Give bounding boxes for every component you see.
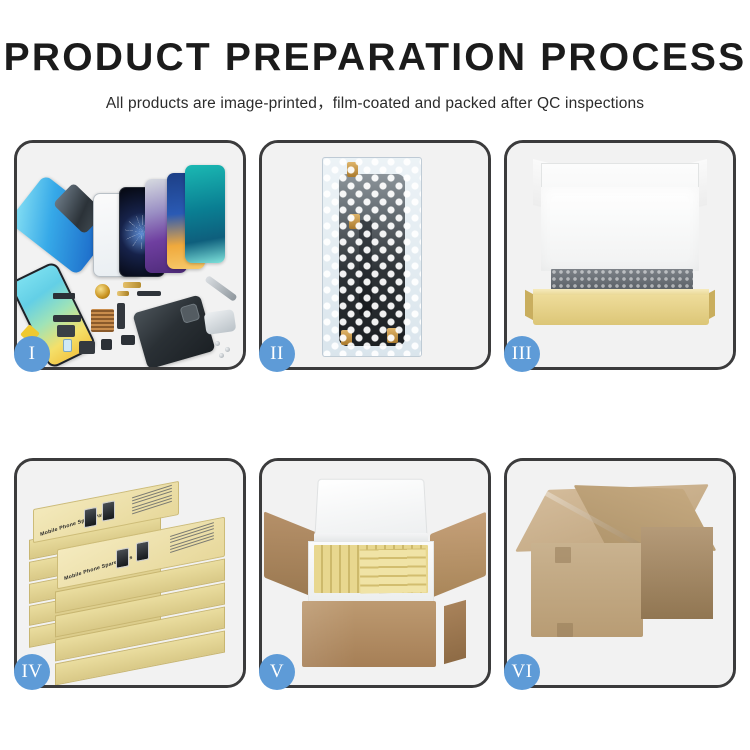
copper-grid-component-icon	[91, 309, 114, 332]
tape-patch-icon	[555, 547, 571, 563]
gold-component-icon	[95, 284, 110, 299]
battery-icon	[79, 341, 95, 354]
flex-cable-icon	[53, 315, 81, 322]
step-image-1	[17, 143, 243, 367]
carton-side-face	[641, 527, 713, 619]
box-artwork-phone-icon	[102, 500, 115, 522]
step-badge-4: IV	[14, 654, 50, 690]
step-panel-6[interactable]: VI	[504, 458, 736, 688]
box-artwork-phone-icon	[116, 547, 129, 569]
step-panel-4[interactable]: Mobile Phone Spare Parts Mobile Phone Sp…	[14, 458, 246, 688]
box-spec-lines	[132, 487, 172, 514]
sim-tray-icon	[63, 339, 72, 352]
phone-back-housing-icon	[132, 294, 215, 367]
products-and-parts-illustration	[17, 143, 243, 367]
box-artwork-phone-icon	[136, 540, 149, 562]
carton-front-panel	[302, 601, 436, 667]
metal-bracket-icon	[53, 293, 75, 299]
box-stack: Mobile Phone Spare Parts Mobile Phone Sp…	[23, 483, 239, 679]
bubble-wrap-bag	[322, 157, 422, 357]
side-flex-icon	[117, 303, 125, 329]
screw-icon	[215, 341, 220, 346]
box-spec-lines	[170, 525, 214, 553]
small-module-icon	[121, 335, 135, 345]
step-image-3	[507, 143, 733, 367]
step-panel-3[interactable]: III	[504, 140, 736, 370]
step-badge-3: III	[504, 336, 540, 372]
step-panel-5[interactable]: V	[259, 458, 491, 688]
tape-patch-icon	[557, 623, 573, 637]
step-image-2	[262, 143, 488, 367]
step-image-5	[262, 461, 488, 685]
step-panel-2[interactable]: II	[259, 140, 491, 370]
carton-with-foam-illustration	[262, 461, 488, 685]
yellow-box-front	[533, 295, 709, 325]
step-badge-2: II	[259, 336, 295, 372]
sealed-carton-illustration	[507, 461, 733, 685]
screw-icon	[225, 347, 230, 352]
step-image-4: Mobile Phone Spare Parts Mobile Phone Sp…	[17, 461, 243, 685]
connector-icon	[57, 325, 75, 337]
box-artwork-phone-icon	[84, 507, 97, 529]
stacked-boxes-illustration: Mobile Phone Spare Parts Mobile Phone Sp…	[17, 461, 243, 685]
header: PRODUCT PREPARATION PROCESS All products…	[0, 38, 750, 113]
page-title: PRODUCT PREPARATION PROCESS	[0, 38, 750, 77]
step-badge-6: VI	[504, 654, 540, 690]
step-badge-1: I	[14, 336, 50, 372]
step-panel-1[interactable]: I	[14, 140, 246, 370]
screw-icon	[219, 353, 224, 358]
page-subtitle: All products are image-printed，film-coat…	[0, 91, 750, 113]
hand-tool-icon	[204, 309, 237, 335]
screwdriver-icon	[204, 275, 237, 302]
process-steps-grid: I II	[14, 140, 736, 690]
gold-pin-icon	[117, 291, 129, 296]
inner-box-illustration	[507, 143, 733, 367]
carton-side-panel	[444, 600, 466, 664]
teal-screen-icon	[185, 165, 225, 263]
white-foam-sheet	[541, 187, 699, 271]
yellow-boxes-row	[360, 548, 427, 593]
gold-contact-strip-icon	[123, 282, 141, 288]
carton-right-flap	[430, 512, 486, 599]
product-preparation-infographic: PRODUCT PREPARATION PROCESS All products…	[0, 0, 750, 750]
camera-module-icon	[101, 339, 112, 350]
carton-front-face	[531, 543, 643, 637]
bubble-texture-overlay	[323, 158, 421, 356]
step-image-6	[507, 461, 733, 685]
step-badge-5: V	[259, 654, 295, 690]
speaker-mesh-icon	[137, 291, 161, 296]
